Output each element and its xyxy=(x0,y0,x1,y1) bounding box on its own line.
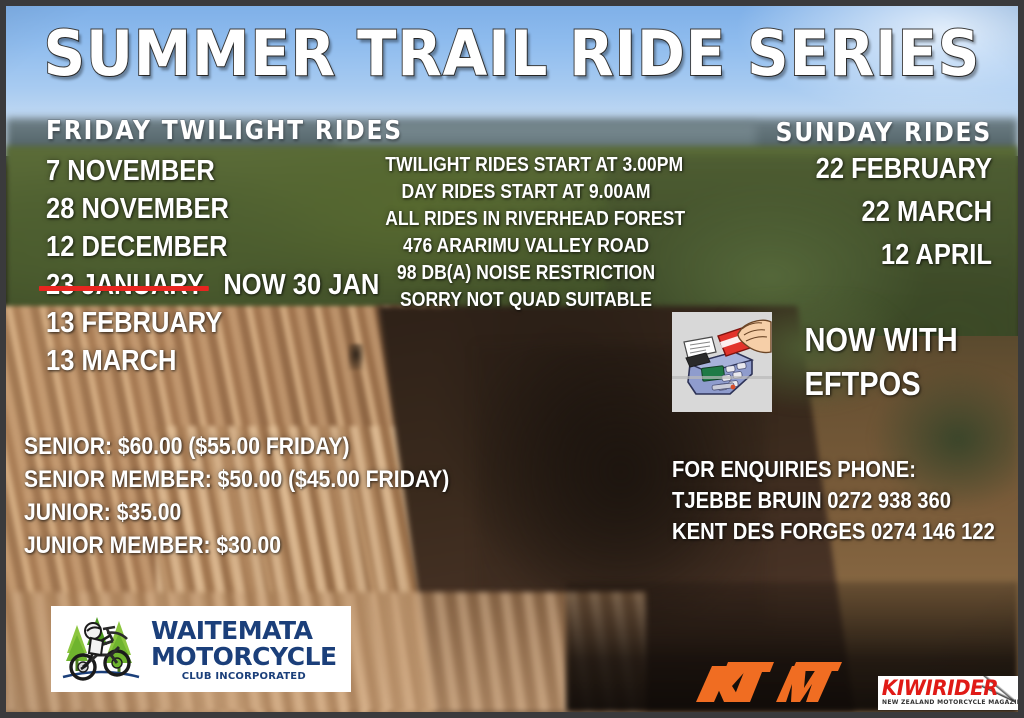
dirt-bike-rider-icon xyxy=(57,611,145,687)
eftpos-line-1: NOW WITH xyxy=(804,318,957,362)
list-item: 28 NOVEMBER xyxy=(46,190,416,228)
list-item: 13 MARCH xyxy=(46,342,416,380)
page-title: SUMMER TRAIL RIDE SERIES xyxy=(41,12,982,96)
replacement-date-note: NOW 30 JAN xyxy=(223,269,379,301)
eftpos-text: NOW WITH EFTPOS xyxy=(794,318,968,406)
date-label: 13 FEBRUARY xyxy=(46,307,222,339)
ktm-logo-icon xyxy=(692,658,852,710)
cancelled-date: 23 JANUARY xyxy=(46,266,204,304)
list-item: 22 MARCH xyxy=(693,191,992,234)
date-label: 7 NOVEMBER xyxy=(46,155,215,187)
sunday-rides-heading: SUNDAY RIDES xyxy=(686,118,992,148)
list-item: JUNIOR MEMBER: $30.00 xyxy=(24,529,482,562)
poster: SUMMER TRAIL RIDE SERIES FRIDAY TWILIGHT… xyxy=(0,0,1024,718)
list-item: SORRY NOT QUAD SUITABLE xyxy=(385,287,667,314)
list-item: DAY RIDES START AT 9.00AM xyxy=(385,179,667,206)
date-label: 13 MARCH xyxy=(46,345,176,377)
list-item: 476 ARARIMU VALLEY ROAD xyxy=(385,233,667,260)
list-item: 98 DB(A) NOISE RESTRICTION xyxy=(385,260,667,287)
enquiries-heading: FOR ENQUIRIES PHONE: xyxy=(672,454,980,485)
date-label: 28 NOVEMBER xyxy=(46,193,229,225)
kiwirider-wordmark: KIWIRIDER xyxy=(878,676,1011,699)
pricing-list: SENIOR: $60.00 ($55.00 FRIDAY) SENIOR ME… xyxy=(24,430,544,562)
ride-info-list: TWILIGHT RIDES START AT 3.00PM DAY RIDES… xyxy=(366,152,686,314)
club-logo-line-1: WAITEMATA xyxy=(151,618,337,643)
list-item: SENIOR: $60.00 ($55.00 FRIDAY) xyxy=(24,430,482,463)
contact-tjebbe-bruin: TJEBBE BRUIN 0272 938 360 xyxy=(672,485,980,516)
eftpos-notice: NOW WITH EFTPOS xyxy=(672,312,968,412)
strikethrough-bar xyxy=(39,286,209,291)
sunday-rides-column: SUNDAY RIDES 22 FEBRUARY 22 MARCH 12 APR… xyxy=(652,118,992,277)
date-label: 12 DECEMBER xyxy=(46,231,228,263)
list-item-cancelled: 23 JANUARY NOW 30 JAN xyxy=(46,266,416,304)
club-logo-wordmark: WAITEMATA MOTORCYCLE CLUB INCORPORATED xyxy=(151,616,337,682)
kiwirider-logo: KIWIRIDER NEW ZEALAND MOTORCYCLE MAGAZIN… xyxy=(878,676,1018,710)
list-item: SENIOR MEMBER: $50.00 ($45.00 FRIDAY) xyxy=(24,463,482,496)
friday-rides-heading: FRIDAY TWILIGHT RIDES xyxy=(46,116,424,146)
enquiries-list: FOR ENQUIRIES PHONE: TJEBBE BRUIN 0272 9… xyxy=(672,454,1022,547)
waitemata-motorcycle-club-logo: WAITEMATA MOTORCYCLE CLUB INCORPORATED xyxy=(51,606,351,692)
content-layer: SUMMER TRAIL RIDE SERIES FRIDAY TWILIGHT… xyxy=(6,6,1018,712)
list-item: TWILIGHT RIDES START AT 3.00PM xyxy=(385,152,667,179)
list-item: 12 DECEMBER xyxy=(46,228,416,266)
list-item: 13 FEBRUARY xyxy=(46,304,416,342)
list-item: 7 NOVEMBER xyxy=(46,152,416,190)
club-logo-line-2: MOTORCYCLE xyxy=(151,644,337,669)
eftpos-terminal-icon xyxy=(672,312,772,412)
eftpos-line-2: EFTPOS xyxy=(804,362,957,406)
list-item: 22 FEBRUARY xyxy=(693,148,992,191)
list-item: JUNIOR: $35.00 xyxy=(24,496,482,529)
list-item: ALL RIDES IN RIVERHEAD FOREST xyxy=(385,206,667,233)
list-item: 12 APRIL xyxy=(693,234,992,277)
sunday-date-list: 22 FEBRUARY 22 MARCH 12 APRIL xyxy=(652,148,992,277)
club-logo-line-3: CLUB INCORPORATED xyxy=(151,672,337,682)
contact-kent-des-forges: KENT DES FORGES 0274 146 122 xyxy=(672,516,980,547)
